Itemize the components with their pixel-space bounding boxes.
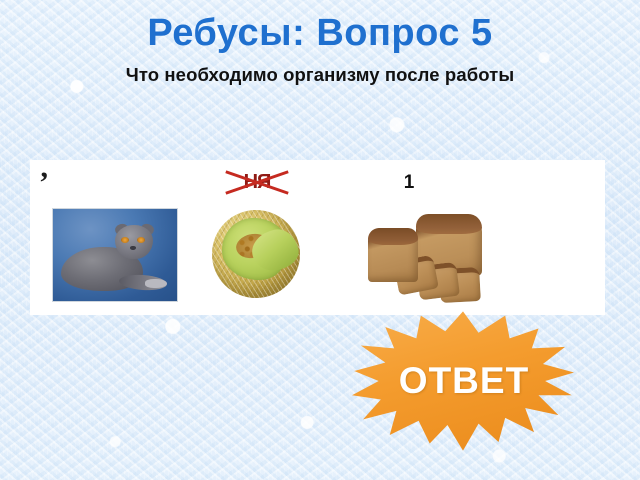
page-subtitle: Что необходимо организму после работы — [0, 64, 640, 86]
slide-canvas: Ребусы: Вопрос 5 Что необходимо организм… — [0, 0, 640, 480]
rebus-panel: ’ НЯ 1 — [30, 160, 605, 315]
cat-head-shape — [115, 225, 153, 259]
answer-button[interactable]: ОТВЕТ — [352, 310, 574, 452]
cat-paw-shape — [145, 279, 167, 288]
bread-photo-icon — [354, 202, 494, 308]
digit-label: 1 — [392, 172, 426, 194]
apostrophe-mark: ’ — [39, 168, 49, 198]
cat-eye-left-shape — [121, 237, 129, 243]
bread-loaf-front-shape — [368, 228, 418, 282]
melon-photo-icon — [208, 202, 306, 302]
title-block: Ребусы: Вопрос 5 Что необходимо организм… — [0, 14, 640, 86]
answer-button-label: ОТВЕТ — [352, 310, 574, 452]
page-title: Ребусы: Вопрос 5 — [0, 14, 640, 54]
crossed-out-letters: НЯ — [226, 168, 288, 198]
cat-photo-icon — [52, 208, 178, 302]
cat-eye-right-shape — [137, 237, 145, 243]
cat-nose-shape — [130, 246, 136, 250]
